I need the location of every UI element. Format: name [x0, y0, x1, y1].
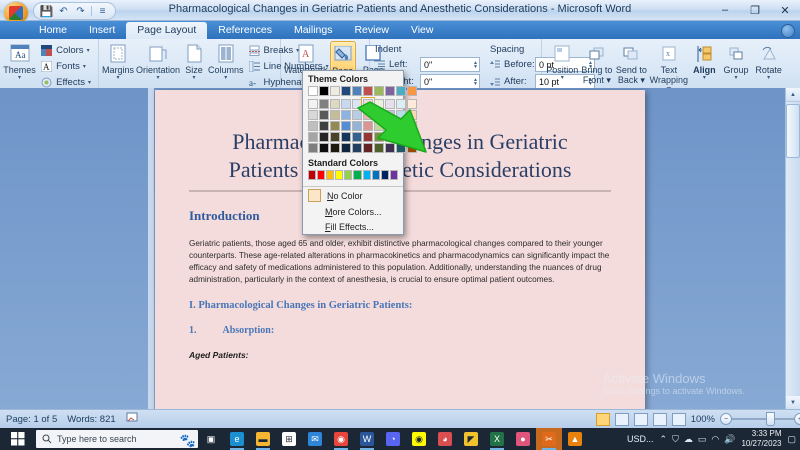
standard-color-swatch[interactable]	[363, 170, 371, 180]
no-color-swatch	[308, 189, 321, 202]
theme-color-swatch[interactable]	[330, 121, 340, 131]
standard-color-swatch[interactable]	[317, 170, 325, 180]
theme-color-column	[341, 86, 351, 153]
theme-color-swatch[interactable]	[352, 121, 362, 131]
watermark-icon: A	[294, 43, 318, 65]
chevron-down-icon: ▾	[88, 79, 91, 86]
lemur-illustration-icon: 🐾	[180, 433, 196, 448]
vertical-scrollbar[interactable]: ▲ ▼	[785, 88, 800, 410]
mail-icon-glyph: ✉	[308, 432, 322, 446]
position-button[interactable]: Position ▾	[545, 41, 580, 81]
send-to-back-label-2: Back ▾	[618, 76, 645, 85]
send-to-back-button[interactable]: Send to Back ▾	[614, 41, 649, 85]
list-item-number: 1.	[189, 325, 197, 336]
theme-color-swatch[interactable]	[330, 143, 340, 153]
ribbon-group-themes: Aa Themes ▾	[0, 39, 99, 91]
paint-icon-glyph: ◕	[438, 432, 452, 446]
indent-right-value: 0"	[424, 77, 432, 87]
chevron-down-icon: ▾	[193, 76, 196, 81]
spacing-after-icon	[488, 76, 501, 88]
theme-fonts-label: Fonts	[56, 61, 80, 72]
bring-to-front-button[interactable]: Bring to Front ▾	[580, 41, 615, 85]
zoom-level[interactable]: 100%	[691, 414, 715, 425]
theme-color-swatch[interactable]	[385, 143, 395, 153]
edge-icon-glyph: e	[230, 432, 244, 446]
theme-color-column	[330, 86, 340, 153]
theme-colors-grid[interactable]	[303, 86, 403, 153]
heading-section-1: I. Pharmacological Changes in Geriatric …	[189, 300, 645, 311]
colors-icon	[40, 44, 53, 57]
indent-left-input[interactable]: 0" ▲▼	[420, 57, 480, 72]
theme-color-swatch[interactable]	[374, 110, 384, 120]
fill-effects-label: Fill Effects...	[325, 222, 374, 232]
theme-color-swatch[interactable]	[363, 99, 373, 109]
text-wrapping-label-1: Text	[661, 66, 678, 75]
task-view-icon[interactable]: ▣	[198, 428, 224, 450]
theme-color-swatch[interactable]	[352, 132, 362, 142]
theme-color-swatch[interactable]	[341, 99, 351, 109]
theme-color-swatch[interactable]	[374, 99, 384, 109]
theme-color-swatch[interactable]	[385, 86, 395, 96]
snapchat-icon-glyph: ◉	[412, 432, 426, 446]
standard-color-swatch[interactable]	[372, 170, 380, 180]
chrome-icon-glyph: ◉	[334, 432, 348, 446]
scroll-up-button[interactable]: ▲	[786, 88, 800, 102]
theme-color-swatch[interactable]	[341, 110, 351, 120]
mail-icon[interactable]: ✉	[302, 428, 328, 450]
margins-label: Margins	[102, 66, 134, 75]
theme-color-swatch[interactable]	[319, 121, 329, 131]
page-color-dropdown[interactable]: Theme Colors Standard Colors No Color Mo…	[302, 70, 404, 235]
battery-icon[interactable]: ▭	[698, 434, 707, 445]
snipping-tool-icon-glyph: ✂	[542, 432, 556, 446]
tray-icon-list: ⌃⛉☁▭◠🔊	[660, 434, 736, 445]
taskbar-app-list: ▣e▬⊞✉◉W◔◉◕◤X●✂▲	[198, 428, 588, 450]
theme-color-swatch[interactable]	[330, 132, 340, 142]
standard-color-swatch[interactable]	[381, 170, 389, 180]
standard-colors-header: Standard Colors	[303, 155, 403, 170]
svg-text:a-: a-	[249, 78, 256, 88]
snapchat-icon[interactable]: ◉	[406, 428, 432, 450]
theme-color-swatch[interactable]	[352, 99, 362, 109]
themes-button-label: Themes	[3, 66, 36, 75]
indent-left-icon	[373, 59, 386, 71]
theme-color-column	[385, 86, 395, 153]
theme-color-swatch[interactable]	[341, 86, 351, 96]
tab-view[interactable]: View	[400, 22, 445, 39]
theme-color-swatch[interactable]	[363, 86, 373, 96]
theme-color-swatch[interactable]	[407, 99, 417, 109]
orientation-icon	[146, 43, 170, 65]
help-icon[interactable]	[781, 24, 795, 38]
send-to-back-label-1: Send to	[616, 66, 647, 75]
svg-text:Aa: Aa	[15, 50, 26, 60]
page-color-icon	[331, 44, 355, 66]
ribbon-group-page-setup: Margins ▾ Orientation ▾	[99, 39, 281, 91]
chevron-down-icon: ▾	[224, 76, 227, 81]
margins-button[interactable]: Margins ▾	[102, 41, 134, 81]
heading-introduction: Introduction	[189, 208, 645, 224]
theme-color-swatch[interactable]	[396, 121, 406, 131]
theme-color-swatch[interactable]	[352, 110, 362, 120]
chevron-down-icon: ▾	[157, 76, 160, 81]
standard-color-swatch[interactable]	[390, 170, 398, 180]
wifi-icon[interactable]: ◠	[711, 434, 719, 445]
scroll-down-button[interactable]: ▼	[786, 396, 800, 410]
more-colors-item[interactable]: More Colors...	[303, 204, 403, 219]
theme-color-swatch[interactable]	[319, 132, 329, 142]
standard-color-swatch[interactable]	[353, 170, 361, 180]
theme-color-swatch[interactable]	[407, 121, 417, 131]
theme-color-swatch[interactable]	[319, 86, 329, 96]
page-indicator[interactable]: Page: 1 of 5	[6, 414, 57, 425]
standard-color-swatch[interactable]	[335, 170, 343, 180]
fill-effects-spacer	[308, 221, 319, 232]
theme-color-swatch[interactable]	[407, 86, 417, 96]
tab-insert[interactable]: Insert	[78, 22, 126, 39]
columns-icon	[214, 43, 238, 65]
theme-color-swatch[interactable]	[396, 99, 406, 109]
theme-color-swatch[interactable]	[396, 86, 406, 96]
zoom-slider[interactable]: − +	[720, 414, 800, 424]
activate-windows-subtitle: Go to Settings to activate Windows.	[603, 386, 745, 396]
file-explorer-icon[interactable]: ▬	[250, 428, 276, 450]
more-colors-label: More Colors...	[325, 207, 382, 217]
theme-color-column	[396, 86, 406, 153]
word-icon[interactable]: W	[354, 428, 380, 450]
close-button[interactable]: ✕	[770, 0, 800, 20]
window-controls: – ❐ ✕	[710, 0, 800, 20]
text-wrapping-icon: x	[657, 43, 681, 65]
line-numbers-icon	[248, 60, 261, 73]
theme-color-swatch[interactable]	[396, 143, 406, 153]
view-full-screen-button[interactable]	[615, 413, 629, 426]
theme-color-swatch[interactable]	[396, 110, 406, 120]
vlc-icon[interactable]: ▲	[562, 428, 588, 450]
chevron-down-icon: ▾	[703, 76, 706, 81]
volume-icon[interactable]: 🔊	[724, 434, 735, 445]
theme-color-swatch[interactable]	[308, 110, 318, 120]
rotate-button[interactable]: Rotate ▾	[752, 41, 785, 81]
water-drop-icon-glyph: ●	[516, 432, 530, 446]
chevron-down-icon: ▾	[561, 76, 564, 81]
position-icon	[550, 43, 574, 65]
theme-color-swatch[interactable]	[385, 121, 395, 131]
search-icon	[42, 434, 52, 444]
paragraph-introduction: Geriatric patients, those aged 65 and ol…	[189, 238, 611, 286]
indent-left-label: Left:	[389, 59, 417, 70]
theme-color-swatch[interactable]	[363, 143, 373, 153]
theme-colors-button[interactable]: Colors ▾	[38, 43, 95, 58]
theme-color-column	[308, 86, 318, 153]
theme-color-swatch[interactable]	[407, 132, 417, 142]
word-window: 💾 ↶ ↷ ≡ Pharmacological Changes in Geria…	[0, 0, 800, 428]
theme-color-swatch[interactable]	[330, 99, 340, 109]
zoom-out-button[interactable]: −	[720, 413, 732, 425]
margins-icon	[106, 43, 130, 65]
size-label: Size	[185, 66, 203, 75]
standard-color-swatch[interactable]	[308, 170, 316, 180]
excel-icon-glyph: X	[490, 432, 504, 446]
status-bar: Page: 1 of 5 Words: 821 100% −	[0, 409, 800, 428]
theme-color-swatch[interactable]	[385, 110, 395, 120]
chevron-down-icon: ▾	[735, 76, 738, 81]
chevron-down-icon: ▾	[83, 63, 86, 70]
taskbar: Type here to search 🐾 ▣e▬⊞✉◉W◔◉◕◤X●✂▲ US…	[0, 428, 800, 450]
action-center-icon[interactable]: ▢	[787, 434, 796, 445]
clock-date: 10/27/2023	[741, 439, 781, 449]
rotate-label: Rotate	[755, 66, 782, 75]
rotate-icon	[757, 43, 781, 65]
align-label: Align	[693, 66, 716, 75]
group-button[interactable]: Group ▾	[720, 41, 753, 81]
list-item-absorption: 1. Absorption:	[189, 325, 645, 336]
svg-text:A: A	[43, 62, 50, 72]
standard-color-swatch[interactable]	[344, 170, 352, 180]
discord-icon-glyph: ◔	[386, 432, 400, 446]
theme-color-swatch[interactable]	[374, 143, 384, 153]
maximize-button[interactable]: ❐	[740, 0, 770, 20]
search-placeholder: Type here to search	[57, 434, 137, 444]
usd-label[interactable]: USD...	[627, 434, 654, 444]
theme-color-swatch[interactable]	[396, 132, 406, 142]
task-view-icon-glyph: ▣	[204, 432, 218, 446]
indent-left-value: 0"	[424, 60, 432, 70]
theme-color-swatch[interactable]	[341, 143, 351, 153]
list-item-label: Absorption:	[223, 325, 275, 336]
theme-fonts-button[interactable]: A Fonts ▾	[38, 59, 95, 74]
chevron-down-icon: ▾	[18, 76, 21, 81]
tab-references[interactable]: References	[207, 22, 283, 39]
theme-color-column	[374, 86, 384, 153]
theme-color-column	[363, 86, 373, 153]
theme-color-column	[319, 86, 329, 153]
notes-icon[interactable]: ◤	[458, 428, 484, 450]
align-button[interactable]: Align ▾	[689, 41, 720, 81]
theme-color-swatch[interactable]	[407, 110, 417, 120]
ribbon-group-arrange: Position ▾ Bring to Front ▾	[542, 39, 788, 91]
theme-color-swatch[interactable]	[319, 143, 329, 153]
themes-small-buttons: Colors ▾ A Fonts ▾	[38, 41, 95, 90]
theme-color-swatch[interactable]	[363, 121, 373, 131]
activate-windows-watermark: Activate Windows Go to Settings to activ…	[603, 371, 745, 396]
snipping-tool-icon[interactable]: ✂	[536, 428, 562, 450]
no-color-label: No Color	[327, 191, 363, 201]
clock[interactable]: 3:33 PM 10/27/2023	[741, 429, 781, 449]
onedrive-icon[interactable]: ☁	[684, 434, 693, 445]
excel-icon[interactable]: X	[484, 428, 510, 450]
vertical-ruler	[148, 88, 154, 410]
standard-colors-row[interactable]	[303, 170, 403, 183]
group-label: Group	[724, 66, 749, 75]
theme-color-swatch[interactable]	[341, 121, 351, 131]
breaks-icon	[248, 44, 261, 57]
indent-right-input[interactable]: 0" ▲▼	[420, 74, 480, 89]
spacing-before-icon	[488, 59, 501, 71]
show-hidden-icons[interactable]: ⌃	[660, 434, 668, 445]
indent-right-spinner[interactable]: ▲▼	[473, 78, 478, 86]
theme-color-swatch[interactable]	[308, 99, 318, 109]
theme-color-swatch[interactable]	[385, 99, 395, 109]
search-box[interactable]: Type here to search 🐾	[36, 430, 198, 448]
theme-colors-header: Theme Colors	[303, 71, 403, 86]
discord-icon[interactable]: ◔	[380, 428, 406, 450]
theme-color-swatch[interactable]	[308, 132, 318, 142]
chrome-icon[interactable]: ◉	[328, 428, 354, 450]
orientation-button[interactable]: Orientation ▾	[136, 41, 180, 81]
view-print-layout-button[interactable]	[596, 413, 610, 426]
zoom-slider-thumb[interactable]	[766, 412, 775, 426]
size-button[interactable]: Size ▾	[182, 41, 206, 81]
theme-color-swatch[interactable]	[308, 86, 318, 96]
scrollbar-thumb[interactable]	[786, 104, 800, 158]
theme-color-swatch[interactable]	[330, 86, 340, 96]
theme-color-swatch[interactable]	[330, 110, 340, 120]
theme-color-swatch[interactable]	[363, 132, 373, 142]
screen: 💾 ↶ ↷ ≡ Pharmacological Changes in Geria…	[0, 0, 800, 450]
fonts-icon: A	[40, 60, 53, 73]
start-button[interactable]	[0, 428, 36, 450]
activate-windows-title: Activate Windows	[603, 371, 745, 386]
tab-review[interactable]: Review	[343, 22, 399, 39]
theme-colors-label: Colors	[56, 45, 83, 56]
size-icon	[182, 43, 206, 65]
proofing-icon[interactable]	[126, 412, 138, 426]
text-wrapping-button[interactable]: x Text Wrapping ▾	[649, 41, 689, 94]
paint-icon[interactable]: ◕	[432, 428, 458, 450]
word-count[interactable]: Words: 821	[67, 414, 115, 425]
word-icon-glyph: W	[360, 432, 374, 446]
theme-color-swatch[interactable]	[407, 143, 417, 153]
theme-color-swatch[interactable]	[363, 110, 373, 120]
theme-color-swatch[interactable]	[352, 86, 362, 96]
theme-color-swatch[interactable]	[374, 86, 384, 96]
bring-to-front-label-2: Front ▾	[583, 76, 611, 85]
svg-text:A: A	[302, 49, 310, 60]
bring-to-front-label-1: Bring to	[581, 66, 612, 75]
vlc-icon-glyph: ▲	[568, 432, 582, 446]
zoom-in-button[interactable]: +	[794, 413, 800, 425]
columns-label: Columns	[208, 66, 244, 75]
theme-effects-label: Effects	[56, 77, 85, 88]
notes-icon-glyph: ◤	[464, 432, 478, 446]
system-tray: USD... ⌃⛉☁▭◠🔊 3:33 PM 10/27/2023 ▢	[627, 429, 800, 449]
theme-color-swatch[interactable]	[308, 121, 318, 131]
zoom-slider-track	[730, 418, 796, 420]
theme-color-column	[407, 86, 417, 153]
no-color-item[interactable]: No Color	[303, 187, 403, 204]
bring-to-front-icon	[585, 43, 609, 65]
minimize-button[interactable]: –	[710, 0, 740, 20]
svg-text:x: x	[666, 49, 670, 58]
security-icon[interactable]: ⛉	[672, 434, 679, 445]
chevron-down-icon: ▾	[87, 47, 90, 54]
tab-page-layout[interactable]: Page Layout	[126, 22, 207, 39]
water-drop-icon[interactable]: ●	[510, 428, 536, 450]
theme-color-swatch[interactable]	[341, 132, 351, 142]
theme-color-swatch[interactable]	[319, 99, 329, 109]
subheading-aged-patients: Aged Patients:	[189, 350, 645, 360]
theme-color-swatch[interactable]	[374, 132, 384, 142]
orientation-label: Orientation	[136, 66, 180, 75]
indent-heading: Indent	[373, 44, 480, 55]
spacing-before-label: Before:	[504, 59, 532, 70]
window-title: Pharmacological Changes in Geriatric Pat…	[0, 3, 800, 15]
fill-effects-item[interactable]: Fill Effects...	[303, 219, 403, 234]
send-to-back-icon	[619, 43, 643, 65]
align-icon	[692, 43, 716, 65]
themes-icon: Aa	[8, 43, 32, 65]
store-icon[interactable]: ⊞	[276, 428, 302, 450]
chevron-down-icon: ▾	[767, 76, 770, 81]
position-label: Position	[546, 66, 578, 75]
theme-color-swatch[interactable]	[308, 143, 318, 153]
indent-left-spinner[interactable]: ▲▼	[473, 61, 478, 69]
theme-color-swatch[interactable]	[374, 121, 384, 131]
standard-color-swatch[interactable]	[326, 170, 334, 180]
title-bar: 💾 ↶ ↷ ≡ Pharmacological Changes in Geria…	[0, 0, 800, 21]
tab-home[interactable]: Home	[28, 22, 78, 39]
chevron-down-icon: ▾	[117, 76, 120, 81]
theme-color-swatch[interactable]	[385, 132, 395, 142]
status-right-group: 100% − +	[596, 413, 800, 426]
themes-button[interactable]: Aa Themes ▾	[3, 41, 36, 81]
edge-icon[interactable]: e	[224, 428, 250, 450]
theme-color-column	[352, 86, 362, 153]
more-colors-spacer	[308, 206, 319, 217]
columns-button[interactable]: Columns ▾	[208, 41, 244, 81]
group-icon	[724, 43, 748, 65]
ribbon-tab-bar: Home Insert Page Layout References Maili…	[0, 21, 800, 39]
file-explorer-icon-glyph: ▬	[256, 432, 270, 446]
theme-color-swatch[interactable]	[319, 110, 329, 120]
theme-color-swatch[interactable]	[352, 143, 362, 153]
clock-time: 3:33 PM	[741, 429, 781, 439]
view-outline-button[interactable]	[653, 413, 667, 426]
view-draft-button[interactable]	[672, 413, 686, 426]
view-web-layout-button[interactable]	[634, 413, 648, 426]
tab-mailings[interactable]: Mailings	[283, 22, 344, 39]
store-icon-glyph: ⊞	[282, 432, 296, 446]
spacing-after-label: After:	[504, 76, 532, 87]
